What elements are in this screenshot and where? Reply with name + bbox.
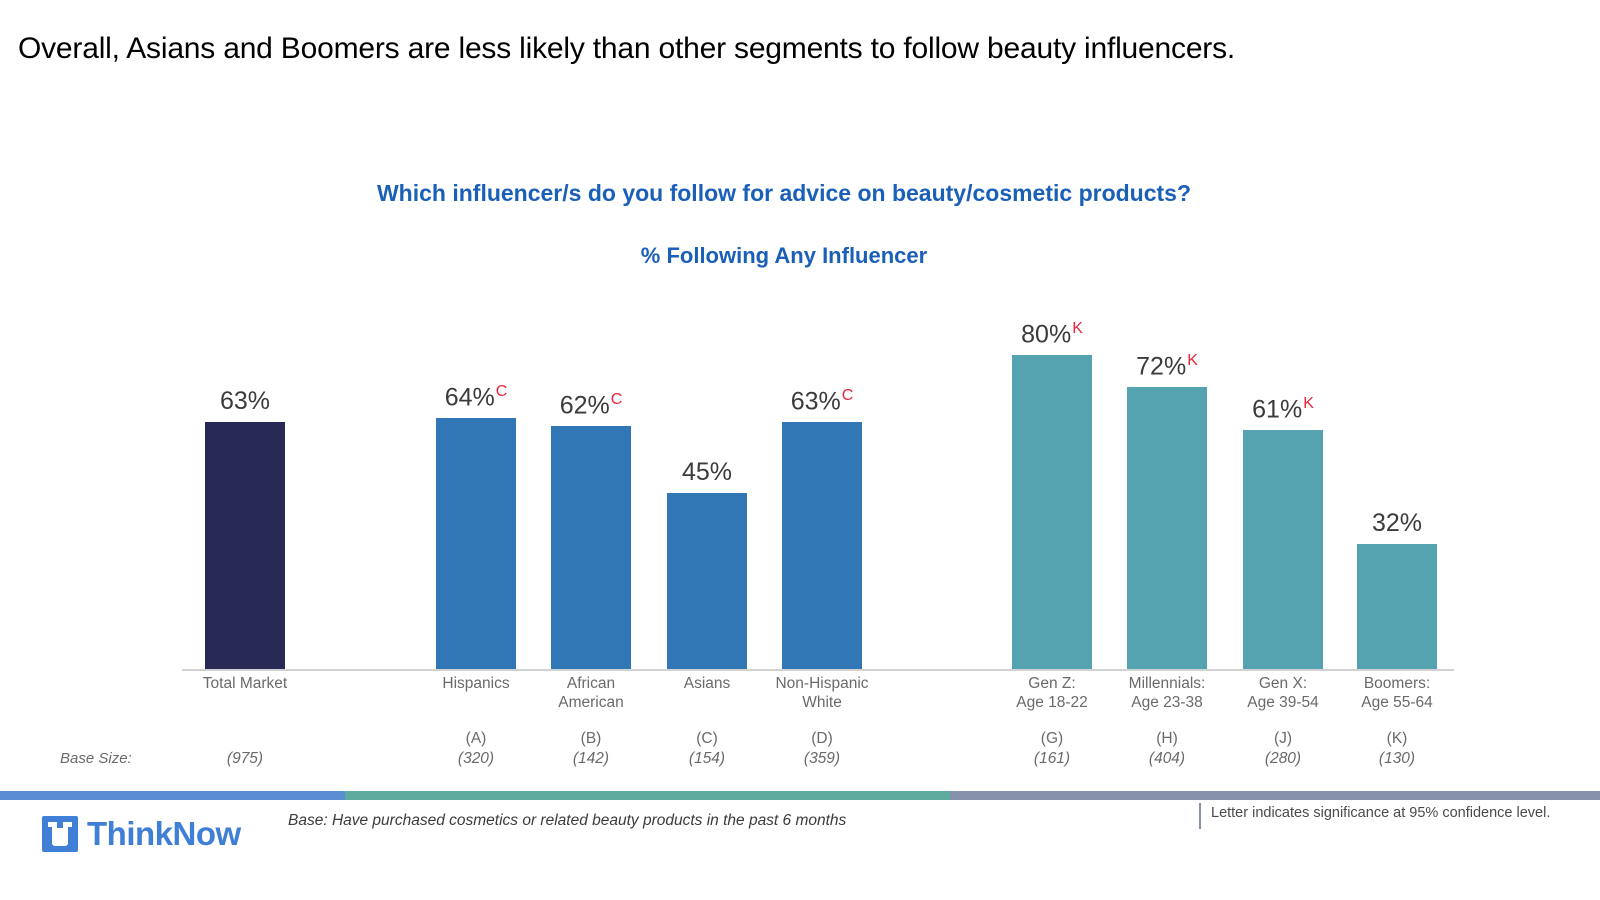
bar-significance-letter: C bbox=[496, 383, 508, 400]
bar-group: 63%C bbox=[782, 300, 862, 670]
chart-metric-subtitle: % Following Any Influencer bbox=[0, 243, 1568, 269]
bar-group: 62%C bbox=[551, 300, 631, 670]
category-label-line2: White bbox=[747, 693, 897, 712]
category-label-line1: Non-Hispanic bbox=[747, 674, 897, 693]
bar-value-number: 80% bbox=[1021, 320, 1071, 348]
bar-group: 32% bbox=[1357, 300, 1437, 670]
base-definition-note: Base: Have purchased cosmetics or relate… bbox=[288, 812, 846, 830]
bar-value-label: 80%K bbox=[982, 320, 1122, 349]
category-letter-code: (D) bbox=[747, 730, 897, 748]
bar-chart-plot-area: 63%64%C62%C45%63%C80%K72%K61%K32% bbox=[0, 300, 1600, 670]
bar-significance-letter: C bbox=[611, 391, 623, 408]
thinknow-logo: ThinkNow bbox=[42, 814, 241, 854]
bar-group: 63% bbox=[205, 300, 285, 670]
category-base-size: (130) bbox=[1322, 750, 1472, 768]
category-letter-code: (K) bbox=[1322, 730, 1472, 748]
bar-significance-letter: K bbox=[1303, 395, 1314, 412]
bar-group: 61%K bbox=[1243, 300, 1323, 670]
chart-bar[interactable] bbox=[1127, 387, 1207, 670]
chart-bar[interactable] bbox=[1012, 355, 1092, 670]
bar-value-label: 45% bbox=[637, 458, 777, 487]
bar-value-number: 72% bbox=[1136, 352, 1186, 380]
category-label-line2: Age 55-64 bbox=[1322, 693, 1472, 712]
logo-notch-shape bbox=[57, 822, 63, 828]
bar-group: 45% bbox=[667, 300, 747, 670]
bar-value-number: 45% bbox=[682, 458, 732, 486]
chart-baseline-axis bbox=[182, 669, 1454, 671]
bar-value-label: 63%C bbox=[752, 387, 892, 416]
category-label-line2: American bbox=[516, 693, 666, 712]
chart-bar[interactable] bbox=[1243, 430, 1323, 670]
chart-bar[interactable] bbox=[551, 426, 631, 670]
significance-note-divider bbox=[1199, 803, 1201, 829]
chart-bar[interactable] bbox=[436, 418, 516, 670]
chart-bar[interactable] bbox=[667, 493, 747, 670]
chart-question-title: Which influencer/s do you follow for adv… bbox=[0, 180, 1568, 207]
category-label-line1: Boomers: bbox=[1322, 674, 1472, 693]
bar-value-label: 63% bbox=[175, 387, 315, 416]
category-label: Total Market bbox=[170, 674, 320, 693]
bar-value-label: 61%K bbox=[1213, 395, 1353, 424]
category-label: Boomers:Age 55-64 bbox=[1322, 674, 1472, 712]
category-label-line1: Total Market bbox=[170, 674, 320, 693]
bar-value-number: 63% bbox=[220, 387, 270, 415]
bar-significance-letter: K bbox=[1187, 352, 1198, 369]
thinknow-logo-text: ThinkNow bbox=[87, 815, 241, 853]
footer-strip-segment-teal bbox=[345, 791, 950, 800]
footer-strip-segment-blue bbox=[0, 791, 345, 800]
bar-value-label: 32% bbox=[1327, 509, 1467, 538]
footer-color-strip bbox=[0, 791, 1600, 800]
bar-group: 64%C bbox=[436, 300, 516, 670]
bar-group: 80%K bbox=[1012, 300, 1092, 670]
bar-value-number: 32% bbox=[1372, 509, 1422, 537]
bar-significance-letter: K bbox=[1072, 320, 1083, 337]
thinknow-logo-icon bbox=[42, 816, 78, 852]
bar-value-label: 62%C bbox=[521, 391, 661, 420]
bar-value-number: 63% bbox=[791, 387, 841, 415]
base-size-caption: Base Size: bbox=[60, 750, 170, 767]
category-label: Non-HispanicWhite bbox=[747, 674, 897, 712]
footer-strip-segment-gray bbox=[950, 791, 1600, 800]
significance-note-text: Letter indicates significance at 95% con… bbox=[1211, 803, 1550, 821]
chart-bar[interactable] bbox=[205, 422, 285, 670]
bar-significance-letter: C bbox=[842, 387, 854, 404]
chart-bar[interactable] bbox=[782, 422, 862, 670]
slide-headline: Overall, Asians and Boomers are less lik… bbox=[18, 30, 1578, 68]
bar-group: 72%K bbox=[1127, 300, 1207, 670]
category-base-size: (975) bbox=[170, 750, 320, 768]
significance-note-block: Letter indicates significance at 95% con… bbox=[1199, 803, 1550, 829]
chart-bar[interactable] bbox=[1357, 544, 1437, 670]
bar-value-number: 62% bbox=[560, 391, 610, 419]
category-base-size: (359) bbox=[747, 750, 897, 768]
bar-value-number: 61% bbox=[1252, 395, 1302, 423]
bar-value-label: 72%K bbox=[1097, 352, 1237, 381]
bar-value-number: 64% bbox=[445, 383, 495, 411]
